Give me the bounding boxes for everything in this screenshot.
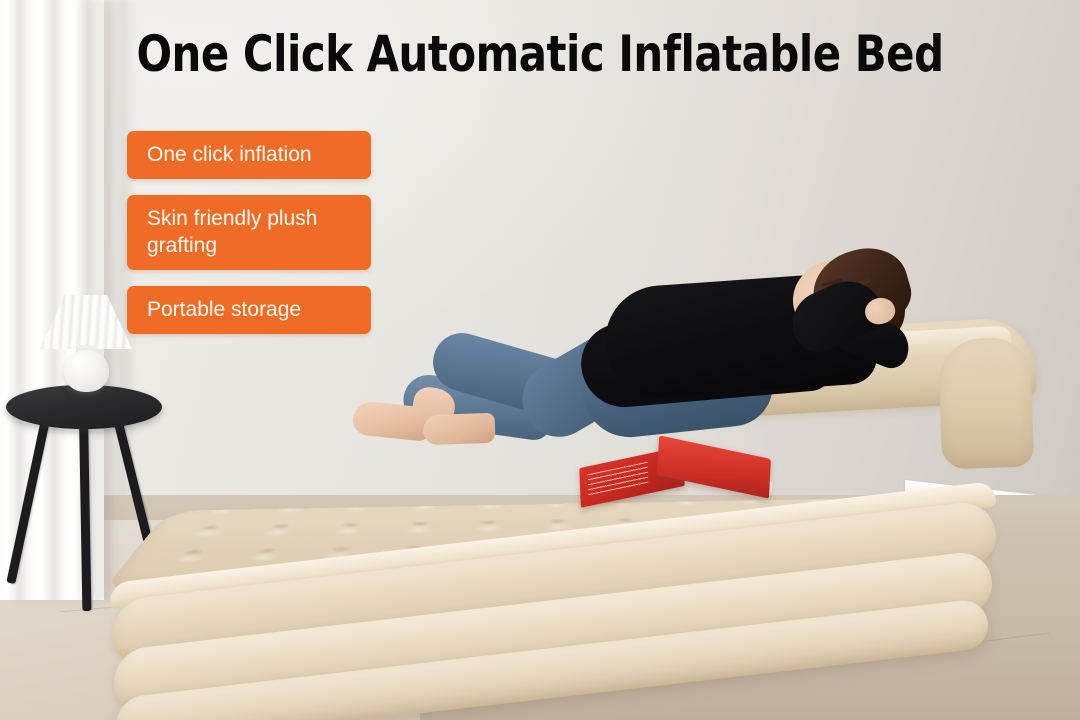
table-leg: [6, 414, 51, 584]
feature-badge-label-line1: Skin friendly plush: [147, 205, 371, 232]
open-magazine: [580, 443, 770, 501]
feature-badge-skin-friendly-plush-grafting[interactable]: Skin friendly plush grafting: [127, 195, 371, 270]
magazine-text-lines: [588, 462, 649, 499]
feature-badge-label: One click inflation: [147, 143, 312, 166]
table-leg: [79, 415, 91, 611]
product-banner: One Click Automatic Inflatable Bed One c…: [0, 0, 1080, 720]
lamp-base: [64, 350, 109, 392]
page-title: One Click Automatic Inflatable Bed: [38, 25, 1042, 83]
bare-foot: [422, 413, 495, 445]
feature-badge-one-click-inflation[interactable]: One click inflation: [127, 131, 371, 179]
magazine-right-page: [657, 435, 771, 498]
bed-headrest-side: [938, 336, 1034, 469]
feature-badge-portable-storage[interactable]: Portable storage: [127, 286, 371, 334]
feature-badge-list: One click inflation Skin friendly plush …: [127, 131, 377, 350]
feature-badge-label-line2: grafting: [147, 232, 371, 259]
feature-badge-label: Portable storage: [147, 298, 301, 321]
